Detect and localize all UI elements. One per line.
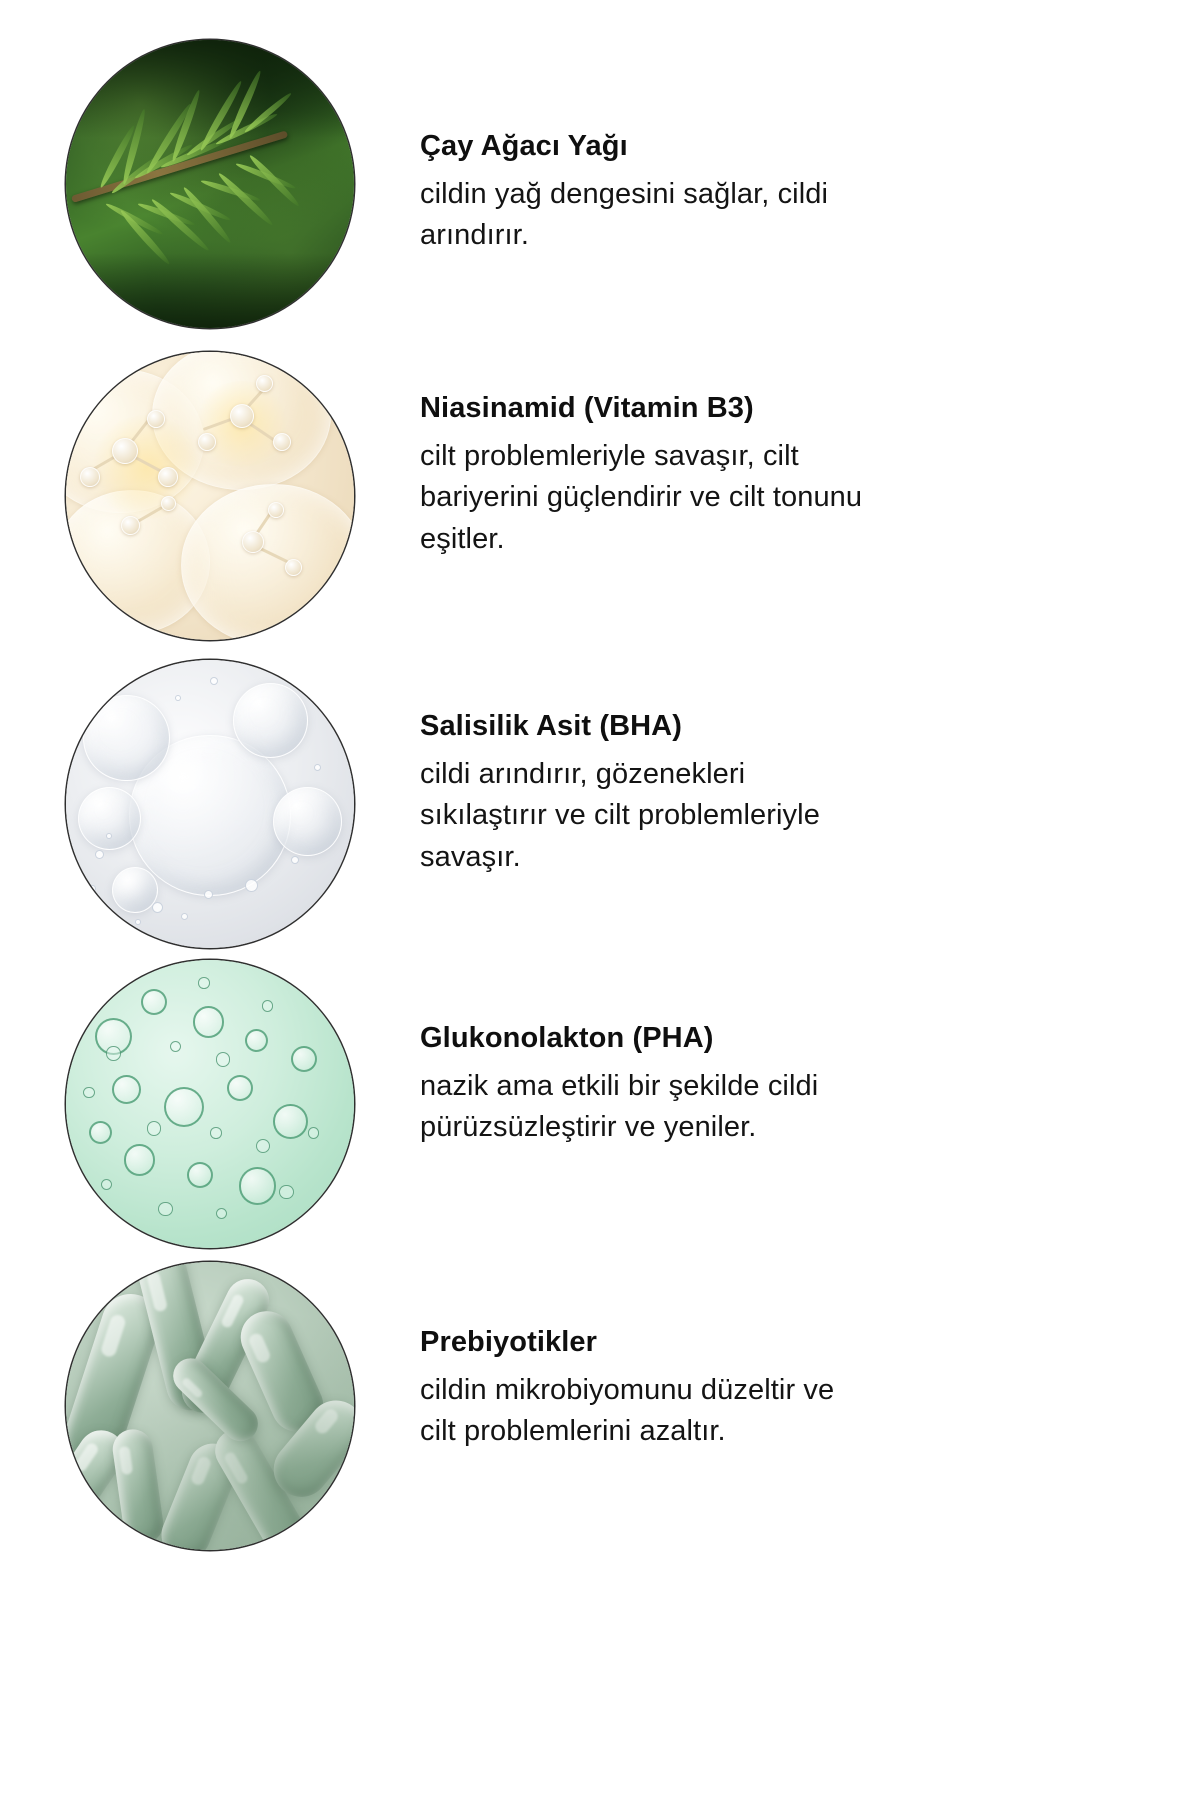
ingredient-description: cildin yağ dengesini sağlar, cildi arınd… bbox=[420, 174, 1000, 256]
ingredient-text: Çay Ağacı Yağı cildin yağ dengesini sağl… bbox=[420, 40, 1200, 257]
ingredient-image-wrap bbox=[0, 960, 420, 1248]
ingredient-description: cilt problemleriyle savaşır, cilt bariye… bbox=[420, 436, 1000, 560]
ingredient-image-wrap bbox=[0, 40, 420, 328]
tea-tree-artwork bbox=[66, 40, 354, 328]
ingredient-image-wrap bbox=[0, 1262, 420, 1550]
ingredient-image-wrap bbox=[0, 352, 420, 640]
niacinamide-artwork bbox=[66, 352, 354, 640]
ingredient-list-page: Çay Ağacı Yağı cildin yağ dengesini sağl… bbox=[0, 0, 1200, 1800]
ingredient-image-wrap bbox=[0, 660, 420, 948]
ingredient-text: Prebiyotikler cildin mikrobiyomunu düzel… bbox=[420, 1262, 1200, 1453]
photo-vignette-top bbox=[66, 40, 354, 138]
gluconolactone-artwork bbox=[66, 960, 354, 1248]
clear-gel-bubbles-photo bbox=[66, 660, 354, 948]
prebiotics-artwork bbox=[66, 1262, 354, 1550]
ingredient-heading: Salisilik Asit (BHA) bbox=[420, 708, 1000, 744]
ingredient-heading: Niasinamid (Vitamin B3) bbox=[420, 390, 1000, 426]
prebiotic-bacteria-rods-photo bbox=[66, 1262, 354, 1550]
ingredient-row: Prebiyotikler cildin mikrobiyomunu düzel… bbox=[0, 1262, 1200, 1550]
salicylic-artwork bbox=[66, 660, 354, 948]
ingredient-description: cildi arındırır, gözenekleri sıkılaştırı… bbox=[420, 754, 1000, 878]
photo-depth-blur bbox=[66, 1262, 354, 1550]
ingredient-row: Niasinamid (Vitamin B3) cilt problemleri… bbox=[0, 352, 1200, 640]
ingredient-row: Glukonolakton (PHA) nazik ama etkili bir… bbox=[0, 960, 1200, 1248]
ingredient-text: Glukonolakton (PHA) nazik ama etkili bir… bbox=[420, 960, 1200, 1149]
ingredient-row: Çay Ağacı Yağı cildin yağ dengesini sağl… bbox=[0, 40, 1200, 328]
ingredient-description: cildin mikrobiyomunu düzeltir ve cilt pr… bbox=[420, 1370, 1000, 1452]
tea-tree-branch-photo bbox=[66, 40, 354, 328]
ingredient-heading: Glukonolakton (PHA) bbox=[420, 1020, 1000, 1056]
ingredient-heading: Prebiyotikler bbox=[420, 1324, 1000, 1360]
ingredient-heading: Çay Ağacı Yağı bbox=[420, 128, 1000, 164]
ingredient-text: Salisilik Asit (BHA) cildi arındırır, gö… bbox=[420, 660, 1200, 878]
ingredient-text: Niasinamid (Vitamin B3) cilt problemleri… bbox=[420, 352, 1200, 560]
niacinamide-molecule-droplets-photo bbox=[66, 352, 354, 640]
photo-vignette-bottom bbox=[66, 253, 354, 328]
ingredient-row: Salisilik Asit (BHA) cildi arındırır, gö… bbox=[0, 660, 1200, 948]
green-gel-bubbles-photo bbox=[66, 960, 354, 1248]
ingredient-description: nazik ama etkili bir şekilde cildi pürüz… bbox=[420, 1066, 1000, 1148]
